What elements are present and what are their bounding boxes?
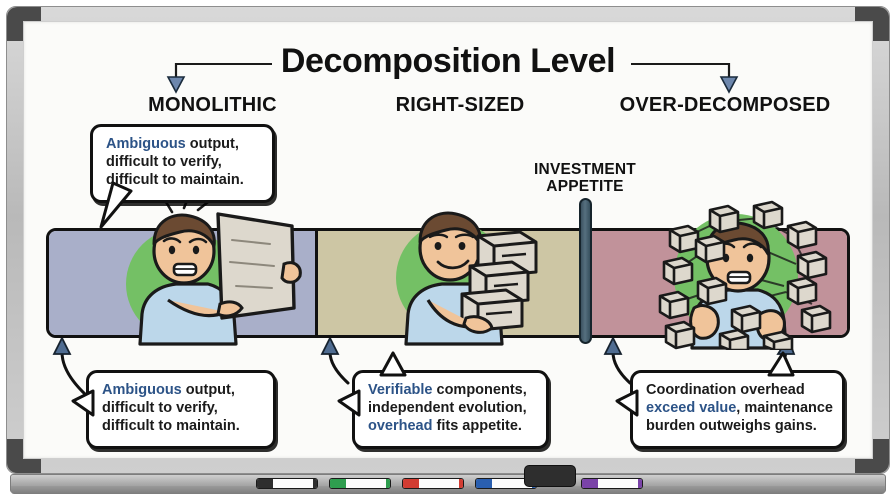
callout-text: Verifiable components,independent evolut… (368, 382, 534, 436)
callout-arrowhead-3 (605, 338, 621, 354)
callout-top-monolithic: Ambiguous output,difficult to verify,dif… (90, 124, 275, 203)
callout-bottom-overdecomposed: Coordination overheadexceed value, maint… (630, 370, 845, 449)
whiteboard: Decomposition Level MONOLITHIC RIGHT-SIZ… (0, 0, 896, 500)
callout-arrowhead-2 (322, 338, 338, 354)
callout-arrowhead-1 (54, 338, 70, 354)
marker-nib-2 (459, 479, 463, 488)
bubble-tail-bottom-rightsized (339, 389, 363, 423)
band-divider-1 (315, 231, 318, 335)
marker-cap-1 (330, 479, 346, 488)
callout-arrow-stem-3 (613, 352, 630, 383)
figure-rightsized (366, 196, 556, 346)
diagram-canvas: Decomposition Level MONOLITHIC RIGHT-SIZ… (0, 0, 896, 500)
marker-nib-1 (386, 479, 390, 488)
marker-tray (10, 474, 886, 493)
callout-text: Coordination overheadexceed value, maint… (646, 382, 830, 436)
marker-cap-3 (476, 479, 492, 488)
callout-arrow-stem-2 (330, 352, 348, 383)
marker-4[interactable] (581, 478, 643, 489)
marker-2[interactable] (402, 478, 464, 489)
callout-text: Ambiguous output,difficult to verify,dif… (106, 136, 260, 190)
marker-nib-4 (638, 479, 642, 488)
marker-nib-0 (313, 479, 317, 488)
marker-1[interactable] (329, 478, 391, 489)
bubble-tail-up-rightsized (375, 353, 415, 377)
callout-text: Ambiguous output,difficult to verify,dif… (102, 382, 261, 436)
marker-cap-4 (582, 479, 598, 488)
bubble-tail-bottom-monolithic (73, 389, 97, 423)
investment-appetite-line2: APPETITE (546, 178, 623, 195)
investment-appetite-label: INVESTMENT APPETITE (495, 162, 675, 195)
marker-cap-0 (257, 479, 273, 488)
arrowhead-down-left (168, 77, 184, 92)
bubble-tail-bottom-overdecomposed (617, 389, 641, 423)
bubble-tail-up-overdecomposed (763, 353, 803, 377)
bubble-tail-top-monolithic (97, 183, 137, 231)
callout-bottom-monolithic: Ambiguous output,difficult to verify,dif… (86, 370, 276, 449)
investment-appetite-line1: INVESTMENT (534, 161, 636, 178)
figure-overdecomposed (636, 190, 836, 350)
arrowhead-down-right (721, 77, 737, 92)
marker-0[interactable] (256, 478, 318, 489)
callout-bottom-rightsized: Verifiable components,independent evolut… (352, 370, 549, 449)
marker-cap-2 (403, 479, 419, 488)
investment-appetite-divider (579, 198, 592, 344)
whiteboard-eraser[interactable] (524, 465, 576, 487)
